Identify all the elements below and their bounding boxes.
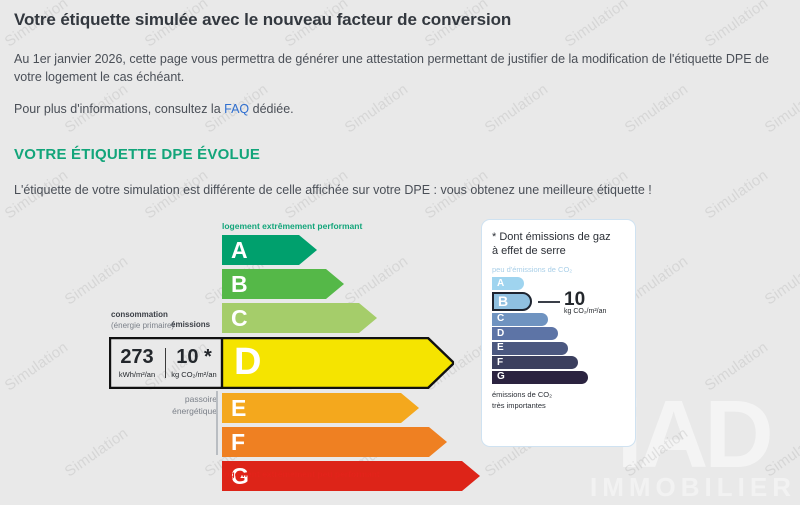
dpe-top-caption: logement extrêmement performant [222, 221, 362, 231]
dpe-row-A: A [222, 235, 317, 265]
ghg-bar-A: A [492, 277, 524, 290]
ghg-bar-G: G [492, 371, 588, 384]
dpe-bar-C: C [222, 303, 377, 333]
consumption-header-sub: (énergie primaire) [111, 320, 174, 331]
ghg-row-F: F [492, 356, 625, 369]
section-title: VOTRE ÉTIQUETTE DPE ÉVOLUE [14, 146, 786, 163]
ghg-letter-F: F [497, 358, 503, 368]
emissions-unit: kg CO₂/m²/an [166, 371, 222, 379]
dpe-row-E: E [222, 393, 419, 423]
dpe-row-C: C [222, 303, 377, 333]
ghg-row-E: E [492, 342, 625, 355]
dpe-row-F: F [222, 427, 447, 457]
page-title: Votre étiquette simulée avec le nouveau … [14, 10, 786, 30]
ghg-row-B: B10kg CO₂/m²/an [492, 292, 625, 311]
ghg-bar-B: B [492, 292, 532, 311]
ghg-footer-line2: très importantes [492, 400, 625, 411]
ghg-bar-E: E [492, 342, 568, 355]
dpe-letter-E: E [231, 397, 246, 420]
ghg-bar-C: C [492, 313, 548, 326]
dpe-bottom-caption: logement extrêmement peu performant [222, 469, 380, 479]
faq-link[interactable]: FAQ [224, 102, 249, 116]
ghg-bar-F: F [492, 356, 578, 369]
chart-area: logement extrêmement performant ABC273kW… [14, 213, 786, 493]
ghg-bar-D: D [492, 327, 558, 340]
ghg-letter-C: C [497, 314, 504, 324]
ghg-value: 10 [564, 290, 585, 309]
emissions-value: 10 * [166, 347, 222, 368]
consumption-value: 273 [109, 347, 165, 368]
consumption-unit: kWh/m²/an [109, 371, 165, 379]
ghg-row-D: D [492, 327, 625, 340]
dpe-row-selected: 273kWh/m²/an10 *kg CO₂/m²/anconsommation… [109, 337, 454, 389]
ghg-panel: * Dont émissions de gaz à effet de serre… [481, 219, 636, 447]
dpe-letter-A: A [231, 239, 248, 262]
ghg-rows: AB10kg CO₂/m²/anCDEFG [492, 277, 625, 384]
dpe-bar-B: B [222, 269, 344, 299]
consumption-header: consommation(énergie primaire) [111, 309, 174, 331]
faq-text-after: dédiée. [249, 102, 293, 116]
ghg-panel-title: * Dont émissions de gaz à effet de serre [492, 230, 625, 258]
dpe-value-box: 273kWh/m²/an10 *kg CO₂/m²/an [109, 337, 222, 389]
ghg-row-A: A [492, 277, 625, 290]
consumption-header-main: consommation [111, 309, 174, 320]
ghg-footer: émissions de CO₂ très importantes [492, 389, 625, 411]
ghg-title-line2: à effet de serre [492, 244, 625, 258]
dpe-letter-F: F [231, 431, 245, 454]
ghg-letter-G: G [497, 372, 505, 382]
dpe-row-B: B [222, 269, 344, 299]
passoire-label: passoire énergétique [139, 393, 217, 417]
dpe-letter-C: C [231, 307, 248, 330]
passoire-line2: énergétique [139, 405, 217, 417]
ghg-title-line1: * Dont émissions de gaz [492, 230, 625, 244]
consumption-value-cell: 273kWh/m²/an [109, 347, 165, 379]
ghg-letter-E: E [497, 343, 504, 353]
page-content: Votre étiquette simulée avec le nouveau … [0, 0, 800, 493]
intro-paragraph: Au 1er janvier 2026, cette page vous per… [14, 50, 786, 86]
ghg-letter-A: A [497, 279, 504, 289]
section-description: L'étiquette de votre simulation est diff… [14, 181, 786, 199]
dpe-selected-letter: D [234, 343, 261, 381]
dpe-bar-F: F [222, 427, 447, 457]
ghg-row-G: G [492, 371, 625, 384]
emissions-value-cell: 10 *kg CO₂/m²/an [166, 347, 222, 379]
emissions-header: émissions [171, 320, 210, 329]
ghg-row-C: C [492, 313, 625, 326]
ghg-letter-B: B [498, 294, 508, 308]
passoire-line1: passoire [139, 393, 217, 405]
ghg-letter-D: D [497, 329, 504, 339]
ghg-footer-line1: émissions de CO₂ [492, 389, 625, 400]
ghg-connector-line [538, 301, 560, 303]
ghg-subtitle: peu d'émissions de CO₂ [492, 265, 625, 274]
passoire-rule [216, 391, 218, 455]
dpe-letter-B: B [231, 273, 248, 296]
faq-text-before: Pour plus d'informations, consultez la [14, 102, 224, 116]
dpe-bar-A: A [222, 235, 317, 265]
faq-paragraph: Pour plus d'informations, consultez la F… [14, 100, 786, 118]
dpe-bar-E: E [222, 393, 419, 423]
